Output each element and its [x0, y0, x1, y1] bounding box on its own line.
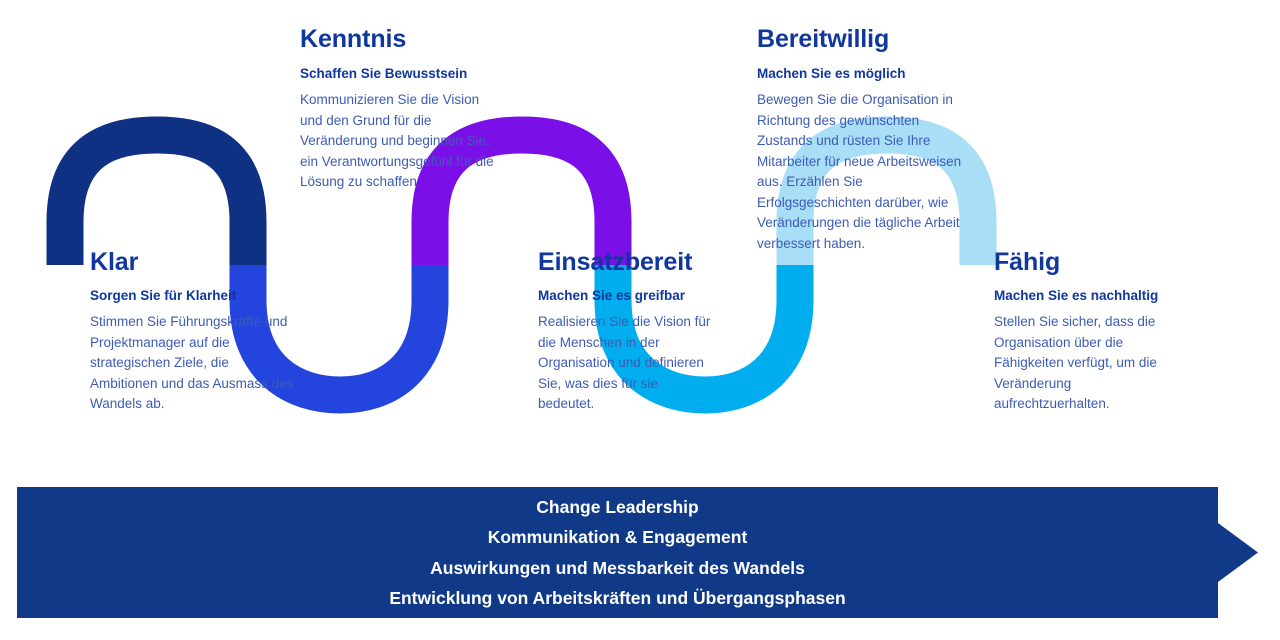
stage-faehig: Fähig Machen Sie es nachhaltig Stellen S…	[994, 249, 1179, 415]
stage-einsatzbereit: Einsatzbereit Machen Sie es greifbar Rea…	[538, 249, 718, 415]
stage-bereitwillig-title: Bereitwillig	[757, 26, 967, 54]
stage-klar: Klar Sorgen Sie für Klarheit Stimmen Sie…	[90, 249, 296, 415]
stage-kenntnis-title: Kenntnis	[300, 26, 505, 54]
stage-kenntnis-body: Kommunizieren Sie die Vision und den Gru…	[300, 90, 505, 193]
stage-faehig-title: Fähig	[994, 249, 1179, 277]
bottom-banner: Change Leadership Kommunikation & Engage…	[17, 487, 1258, 618]
stage-kenntnis-subtitle: Schaffen Sie Bewusstsein	[300, 64, 505, 84]
stage-bereitwillig-body: Bewegen Sie die Organisation in Richtung…	[757, 90, 967, 254]
stage-klar-subtitle: Sorgen Sie für Klarheit	[90, 286, 296, 306]
banner-line-2: Kommunikation & Engagement	[488, 523, 748, 551]
banner-text-lines: Change Leadership Kommunikation & Engage…	[17, 487, 1218, 618]
stage-einsatzbereit-title: Einsatzbereit	[538, 249, 718, 277]
stage-einsatzbereit-body: Realisieren Sie die Vision für die Mensc…	[538, 312, 718, 415]
banner-line-1: Change Leadership	[536, 493, 698, 521]
stage-faehig-body: Stellen Sie sicher, dass die Organisatio…	[994, 312, 1179, 415]
wave-segment-klar	[65, 135, 248, 265]
stage-einsatzbereit-subtitle: Machen Sie es greifbar	[538, 286, 718, 306]
stage-bereitwillig-subtitle: Machen Sie es möglich	[757, 64, 967, 84]
stage-faehig-subtitle: Machen Sie es nachhaltig	[994, 286, 1179, 306]
stage-klar-title: Klar	[90, 249, 296, 277]
stage-bereitwillig: Bereitwillig Machen Sie es möglich Beweg…	[757, 26, 967, 254]
stage-kenntnis: Kenntnis Schaffen Sie Bewusstsein Kommun…	[300, 26, 505, 193]
banner-line-4: Entwicklung von Arbeitskräften und Überg…	[389, 584, 845, 612]
banner-line-3: Auswirkungen und Messbarkeit des Wandels	[430, 554, 805, 582]
stage-klar-body: Stimmen Sie Führungskräfte und Projektma…	[90, 312, 296, 415]
